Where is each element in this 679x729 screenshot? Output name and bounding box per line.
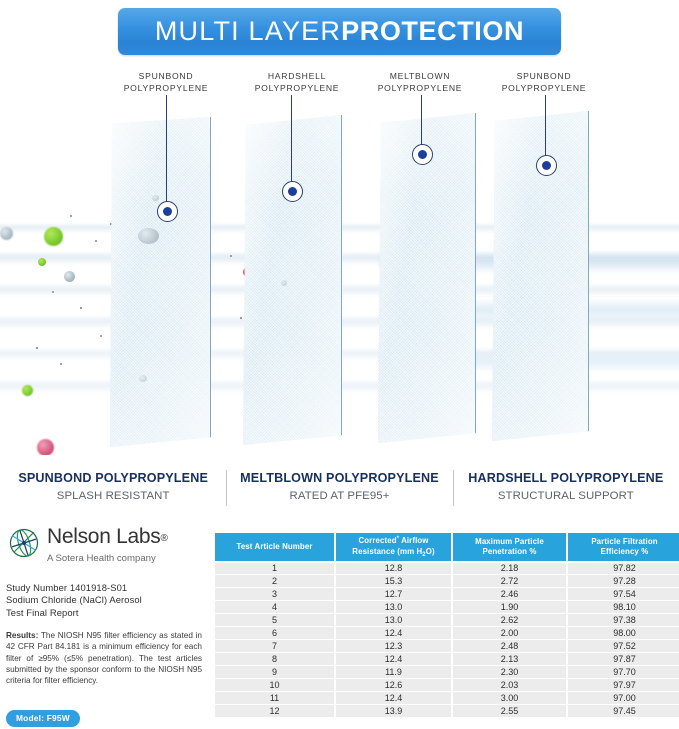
banner-title-bold: PROTECTION — [341, 16, 524, 46]
table-cell: 2.13 — [453, 653, 566, 665]
table-cell: 5 — [215, 614, 334, 626]
table-cell: 6 — [215, 627, 334, 639]
table-cell: 2 — [215, 575, 334, 587]
particle-green — [22, 385, 33, 396]
table-cell: 3.00 — [453, 692, 566, 704]
globe-logo-icon — [6, 525, 42, 561]
layer-label-1-line1: SPUNBOND — [91, 70, 241, 82]
layer-label-4-line1: SPUNBOND — [469, 70, 619, 82]
table-cell: 2.30 — [453, 666, 566, 678]
droplet — [139, 375, 147, 382]
table-cell: 11 — [215, 692, 334, 704]
table-cell: 97.45 — [568, 705, 679, 717]
table-row: 312.72.4697.54 — [215, 588, 679, 600]
layer-diagram — [0, 95, 679, 455]
table-cell: 12.7 — [336, 588, 451, 600]
table-cell: 13.0 — [336, 614, 451, 626]
banner-title-light: MULTI LAYER — [155, 16, 341, 46]
lab-name-text: Nelson Labs — [47, 525, 160, 548]
table-cell: 11.9 — [336, 666, 451, 678]
feature-subtitle: SPLASH RESISTANT — [0, 488, 226, 505]
feature-subtitle: STRUCTURAL SUPPORT — [453, 488, 679, 505]
particle-pink — [37, 439, 54, 455]
table-cell: 4 — [215, 601, 334, 613]
table-row: 513.02.6297.38 — [215, 614, 679, 626]
table-row: 612.42.0098.00 — [215, 627, 679, 639]
speck — [230, 255, 232, 257]
speck — [100, 335, 102, 337]
speck — [80, 307, 82, 309]
results-paragraph: Results: The NIOSH N95 filter efficiency… — [6, 630, 202, 686]
study-report-type: Test Final Report — [6, 607, 210, 619]
table-body: 112.82.1897.82215.32.7297.28312.72.4697.… — [215, 563, 679, 717]
table-cell: 13.9 — [336, 705, 451, 717]
table-row: 112.82.1897.82 — [215, 563, 679, 575]
table-row: 1213.92.5597.45 — [215, 705, 679, 717]
droplet — [152, 195, 159, 201]
table-row: 1012.62.0397.97 — [215, 679, 679, 691]
table-cell: 97.00 — [568, 692, 679, 704]
speck — [36, 347, 38, 349]
feature-row: SPUNBOND POLYPROPYLENE SPLASH RESISTANT … — [0, 468, 679, 514]
table-cell: 12.6 — [336, 679, 451, 691]
table-cell: 1.90 — [453, 601, 566, 613]
feature-hardshell: HARDSHELL POLYPROPYLENE STRUCTURAL SUPPO… — [453, 468, 679, 514]
feature-spunbond: SPUNBOND POLYPROPYLENE SPLASH RESISTANT — [0, 468, 226, 514]
speck — [70, 215, 72, 217]
table-header-airflow-resistance: Corrected* AirflowResistance (mm H2O) — [336, 533, 451, 561]
table-cell: 2.18 — [453, 563, 566, 575]
particle-green — [38, 258, 46, 266]
callout-dot-4 — [536, 155, 557, 176]
leader-line-2 — [291, 95, 292, 183]
table-cell: 8 — [215, 653, 334, 665]
table-row: 1112.43.0097.00 — [215, 692, 679, 704]
table-cell: 2.62 — [453, 614, 566, 626]
speck — [110, 223, 112, 225]
table-cell: 12.3 — [336, 640, 451, 652]
table-cell: 97.38 — [568, 614, 679, 626]
table-cell: 98.00 — [568, 627, 679, 639]
table-cell: 97.54 — [568, 588, 679, 600]
particle-gray — [0, 227, 13, 240]
table-cell: 97.97 — [568, 679, 679, 691]
nelson-labs-logo: Nelson Labs® A Sotera Health company — [6, 524, 210, 566]
fabric-layer-2 — [243, 115, 342, 445]
table-cell: 2.03 — [453, 679, 566, 691]
callout-dot-2 — [282, 181, 303, 202]
particle-gray — [64, 271, 75, 282]
study-details: Study Number 1401918-S01 Sodium Chloride… — [6, 582, 210, 619]
table-cell: 97.70 — [568, 666, 679, 678]
table-cell: 10 — [215, 679, 334, 691]
callout-dot-3 — [412, 144, 433, 165]
table-row: 413.01.9098.10 — [215, 601, 679, 613]
table-cell: 2.48 — [453, 640, 566, 652]
table-cell: 12.4 — [336, 692, 451, 704]
speck — [60, 363, 62, 365]
table-cell: 15.3 — [336, 575, 451, 587]
lab-name: Nelson Labs® — [47, 526, 168, 550]
table-cell: 2.55 — [453, 705, 566, 717]
filtration-results-table: Test Article Number Corrected* AirflowRe… — [215, 533, 679, 718]
model-badge: Model: F95W — [6, 710, 80, 727]
table-header-filtration-efficiency: Particle FiltrationEfficiency % — [568, 533, 679, 561]
table-cell: 12.4 — [336, 653, 451, 665]
droplet — [138, 228, 159, 244]
study-aerosol: Sodium Chloride (NaCl) Aerosol — [6, 594, 210, 606]
lab-tagline: A Sotera Health company — [47, 552, 168, 566]
callout-dot-1 — [157, 201, 178, 222]
table-cell: 12 — [215, 705, 334, 717]
table-row: 812.42.1397.87 — [215, 653, 679, 665]
speck — [240, 317, 242, 319]
table-cell: 97.28 — [568, 575, 679, 587]
table-cell: 97.87 — [568, 653, 679, 665]
layer-label-1: SPUNBOND POLYPROPYLENE — [91, 70, 241, 94]
table-header-test-article: Test Article Number — [215, 533, 334, 561]
table-cell: 3 — [215, 588, 334, 600]
table-cell: 98.10 — [568, 601, 679, 613]
header-banner: MULTI LAYERPROTECTION — [0, 8, 679, 58]
feature-title: MELTBLOWN POLYPROPYLENE — [226, 470, 452, 487]
study-number: Study Number 1401918-S01 — [6, 582, 210, 594]
table-header-row: Test Article Number Corrected* AirflowRe… — [215, 533, 679, 561]
droplet — [281, 280, 287, 286]
lab-trademark: ® — [160, 533, 167, 544]
table-row: 215.32.7297.28 — [215, 575, 679, 587]
table-cell: 97.82 — [568, 563, 679, 575]
layer-label-4: SPUNBOND POLYPROPYLENE — [469, 70, 619, 94]
table-cell: 7 — [215, 640, 334, 652]
table-cell: 97.52 — [568, 640, 679, 652]
layer-label-1-line2: POLYPROPYLENE — [91, 82, 241, 94]
table-cell: 2.72 — [453, 575, 566, 587]
table-cell: 2.00 — [453, 627, 566, 639]
feature-meltblown: MELTBLOWN POLYPROPYLENE RATED AT PFE95+ — [226, 468, 452, 514]
table-row: 712.32.4897.52 — [215, 640, 679, 652]
table-row: 911.92.3097.70 — [215, 666, 679, 678]
banner-pill: MULTI LAYERPROTECTION — [118, 8, 561, 55]
leader-line-4 — [545, 95, 546, 157]
leader-line-3 — [421, 95, 422, 146]
fabric-layer-1 — [110, 117, 211, 447]
table-cell: 13.0 — [336, 601, 451, 613]
particle-green — [44, 227, 63, 246]
results-label: Results: — [6, 631, 38, 640]
table-cell: 12.8 — [336, 563, 451, 575]
table-cell: 1 — [215, 563, 334, 575]
table-cell: 2.46 — [453, 588, 566, 600]
lab-info-panel: Nelson Labs® A Sotera Health company Stu… — [6, 524, 210, 686]
leader-line-1 — [166, 95, 167, 203]
table-header-max-penetration: Maximum ParticlePenetration % — [453, 533, 566, 561]
feature-subtitle: RATED AT PFE95+ — [226, 488, 452, 505]
banner-title: MULTI LAYERPROTECTION — [155, 18, 524, 45]
table-cell: 9 — [215, 666, 334, 678]
feature-title: SPUNBOND POLYPROPYLENE — [0, 470, 226, 487]
speck — [52, 291, 54, 293]
layer-label-4-line2: POLYPROPYLENE — [469, 82, 619, 94]
table-cell: 12.4 — [336, 627, 451, 639]
feature-title: HARDSHELL POLYPROPYLENE — [453, 470, 679, 487]
speck — [95, 240, 97, 242]
